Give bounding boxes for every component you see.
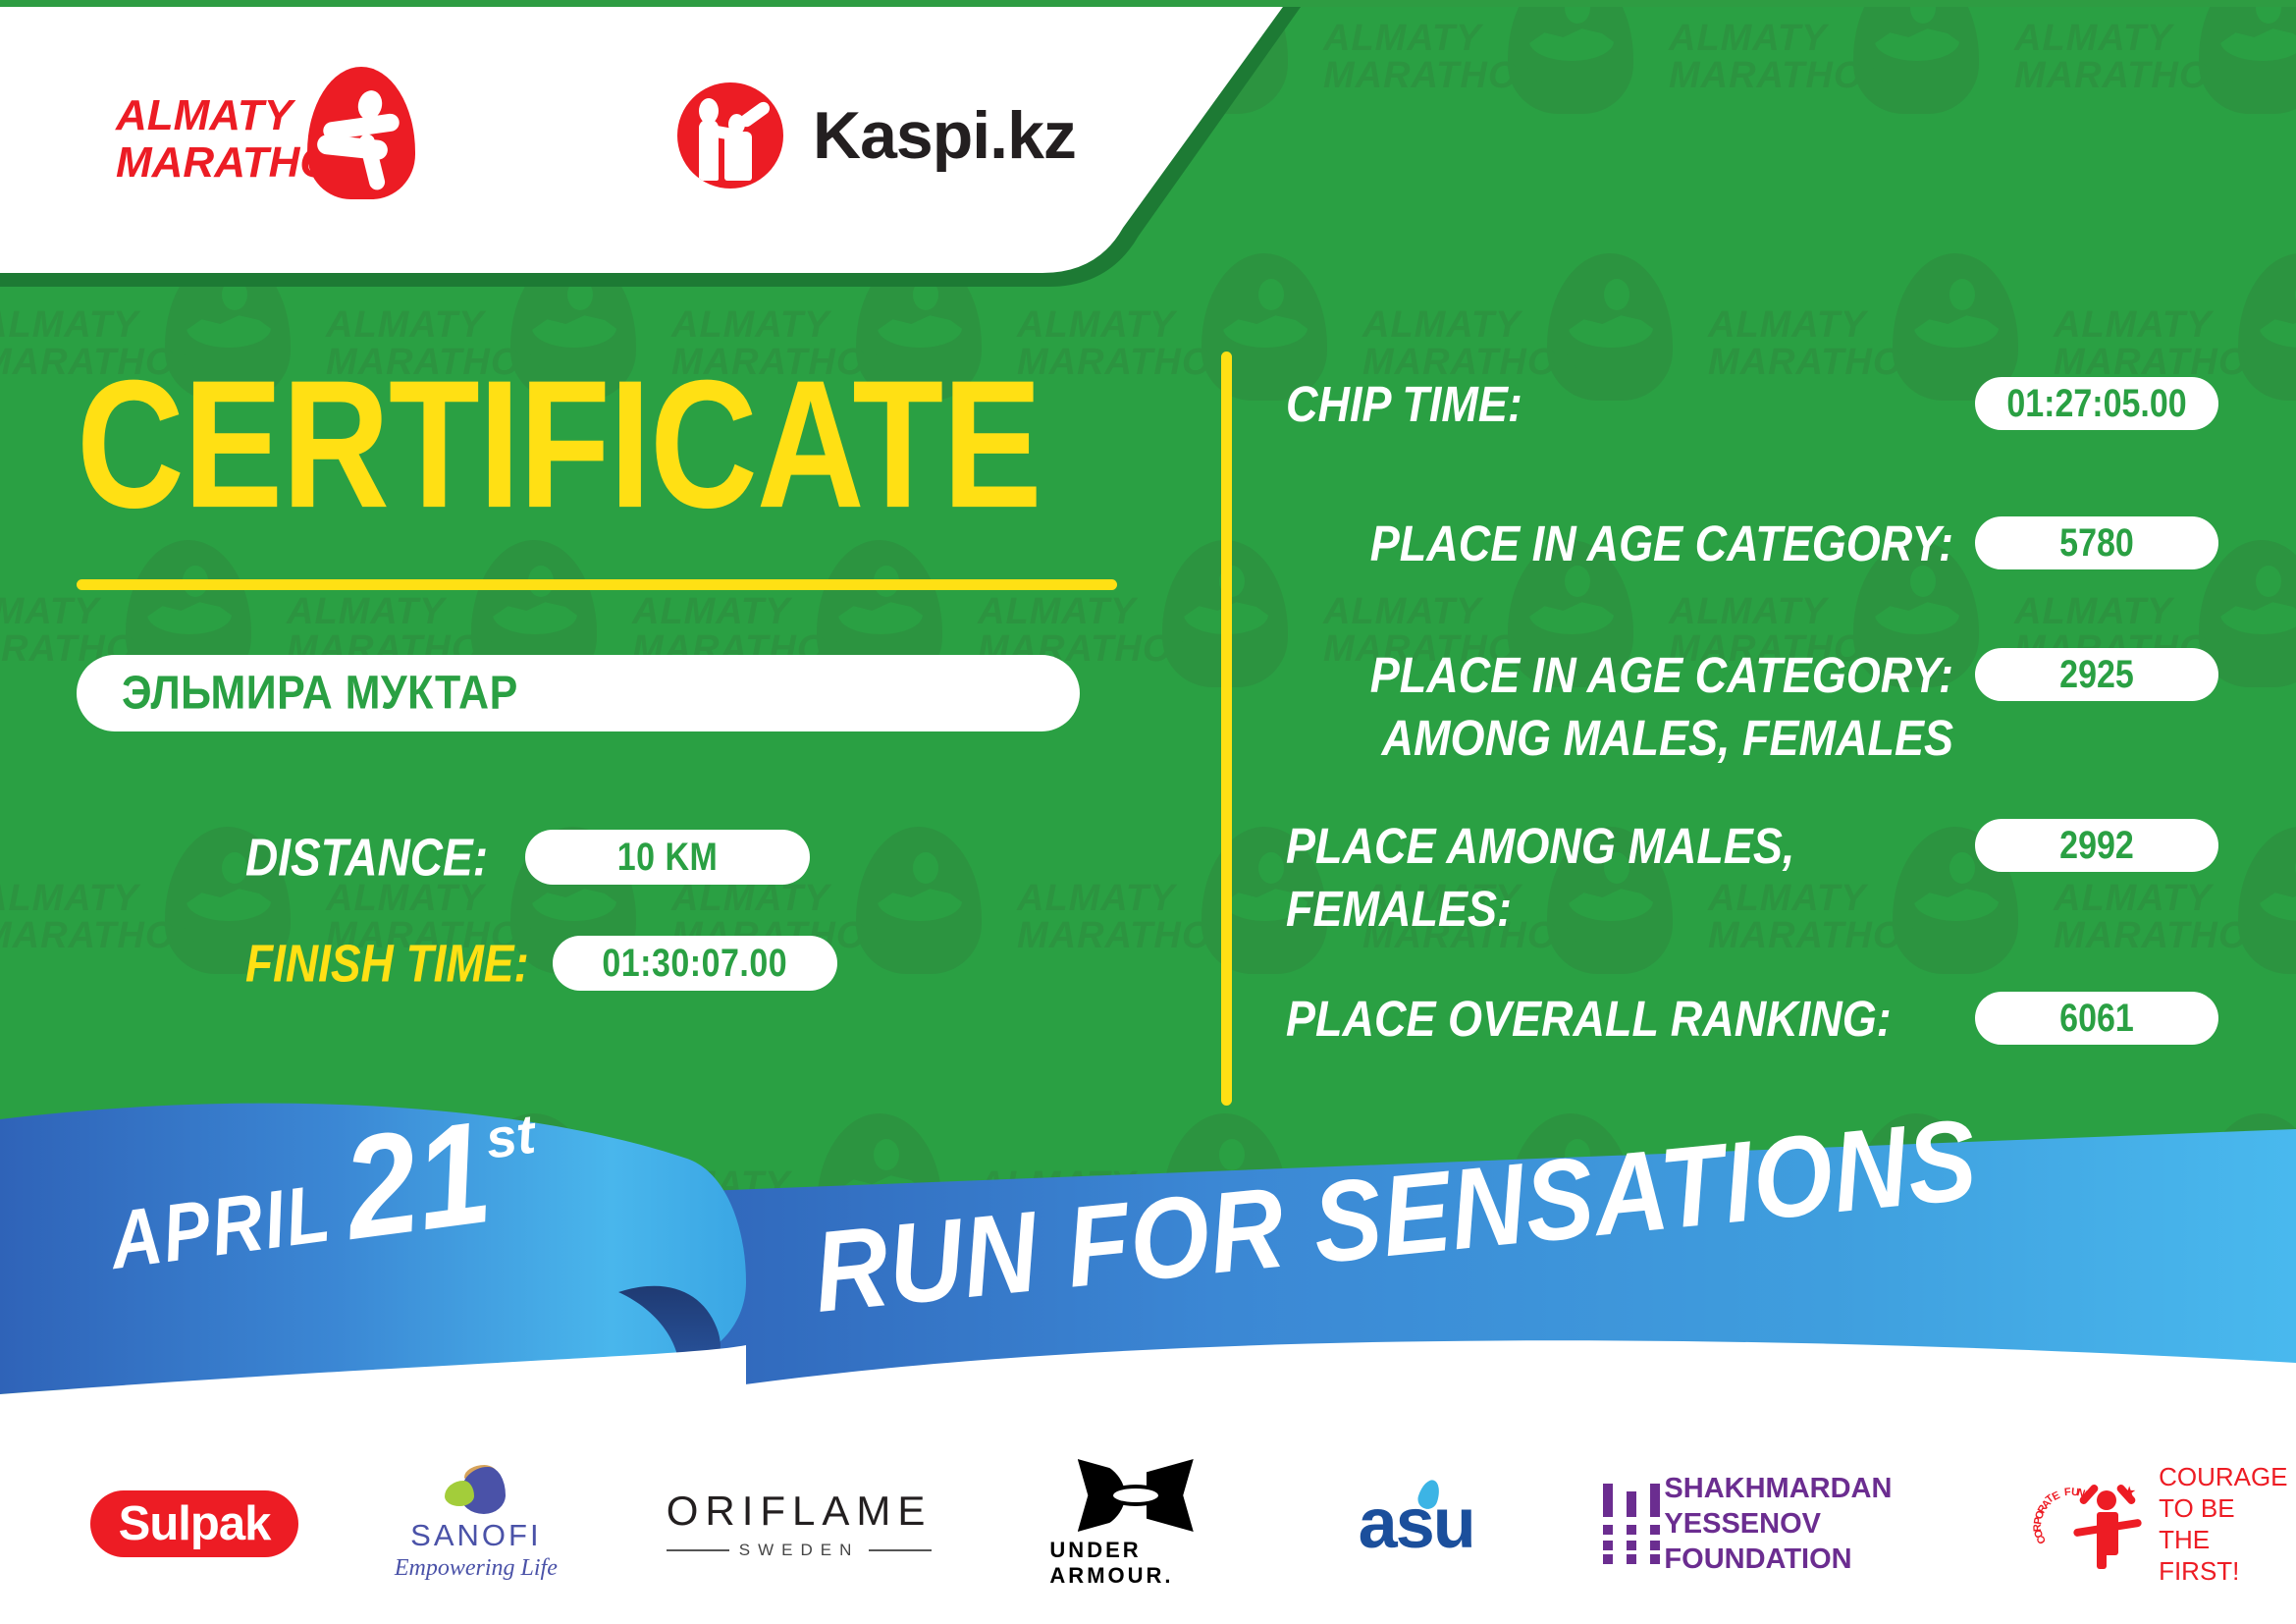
- watermark-line2: MARATHON: [1323, 55, 1546, 97]
- stat-place-overall-ranking: PLACE OVERALL RANKING: 6061: [1286, 988, 2218, 1045]
- syf-logo: SHAKHMARDAN YESSENOV FOUNDATION: [1601, 1471, 1926, 1577]
- watermark-tile: ALMATYMARATHON: [1669, 0, 1983, 206]
- watermark-line1: ALMATY: [1017, 304, 1176, 347]
- oriflame-sub: SWEDEN: [667, 1541, 933, 1560]
- syf-wordmark: SHAKHMARDAN YESSENOV FOUNDATION: [1664, 1471, 1926, 1577]
- sponsor-shakhmardan-yessenov-foundation: SHAKHMARDAN YESSENOV FOUNDATION: [1601, 1455, 1926, 1593]
- ctbf-line2: TO BE: [2159, 1492, 2296, 1524]
- finish-time-value-pill: 01:30:07.00: [553, 936, 837, 991]
- stat-place-among-gender: PLACE AMONG MALES, FEMALES: 2992: [1286, 815, 2218, 925]
- distance-label: DISTANCE:: [245, 827, 488, 889]
- syf-bars-icon: [1601, 1484, 1644, 1564]
- stat-place-age-category-pill: 5780: [1975, 516, 2218, 569]
- ctbf-mark-icon: CORPORATE FUND ★: [2034, 1477, 2143, 1571]
- ctbf-figure-icon: ★: [2075, 1485, 2140, 1569]
- stat-label-line2: FEMALES:: [1286, 878, 1953, 941]
- oriflame-logo: ORIFLAME SWEDEN: [667, 1488, 933, 1560]
- stat-chip-time-label: CHIP TIME:: [1286, 373, 1953, 436]
- stat-place-age-category-gender-value: 2925: [2059, 652, 2134, 697]
- syf-line1: SHAKHMARDAN YESSENOV: [1664, 1471, 1926, 1542]
- sponsor-bar: Sulpak SANOFI Empowering Life ORIFLAME S…: [0, 1424, 2296, 1624]
- stat-place-age-category-value: 5780: [2059, 520, 2134, 566]
- watermark-line1: ALMATY: [2054, 304, 2213, 347]
- kaspi-kz-wordmark: Kaspi.kz: [813, 97, 1076, 174]
- event-day-suffix: st: [482, 1102, 539, 1171]
- under-armour-icon: [1078, 1459, 1194, 1532]
- ctbf-line1: COURAGE: [2159, 1461, 2296, 1492]
- stat-place-among-gender-value: 2992: [2059, 823, 2134, 868]
- distance-value-pill: 10 KM: [525, 830, 810, 885]
- title-underline: [77, 579, 1117, 590]
- watermark-line1: ALMATY: [1669, 18, 1828, 60]
- oriflame-wordmark: ORIFLAME: [667, 1488, 933, 1535]
- sponsor-oriflame: ORIFLAME SWEDEN: [667, 1455, 933, 1593]
- ctbf-logo: CORPORATE FUND ★ COURAGE TO BE THE FIRST…: [2034, 1461, 2296, 1587]
- stat-place-among-gender-pill: 2992: [1975, 819, 2218, 872]
- sponsor-sulpak: Sulpak: [90, 1455, 298, 1593]
- top-rule: [0, 0, 2296, 7]
- sulpak-wordmark: Sulpak: [119, 1496, 271, 1551]
- finish-time-row: FINISH TIME: 01:30:07.00: [245, 936, 1176, 991]
- watermark-line1: ALMATY: [1708, 304, 1867, 347]
- certificate-title: CERTIFICATE: [77, 353, 1176, 535]
- watermark-line1: ALMATY: [1323, 18, 1482, 60]
- runner-drop-icon: [307, 67, 415, 199]
- finish-time-label: FINISH TIME:: [245, 933, 529, 995]
- stat-place-age-category-label: PLACE IN AGE CATEGORY:: [1286, 513, 1953, 575]
- kaspi-family-icon: [677, 82, 783, 189]
- event-day: 21: [336, 1100, 498, 1263]
- stat-place-age-category-gender-pill: 2925: [1975, 648, 2218, 701]
- finish-time-value: 01:30:07.00: [602, 941, 787, 986]
- oriflame-sweden-text: SWEDEN: [739, 1541, 860, 1560]
- watermark-line2: MARATHON: [2014, 55, 2237, 97]
- stat-label-line1: PLACE AMONG MALES,: [1286, 815, 1953, 878]
- sanofi-logo: SANOFI Empowering Life: [395, 1467, 558, 1582]
- runner-name-field: ЭЛЬМИРА МУКТАР: [77, 655, 1080, 731]
- asu-wordmark: asu: [1359, 1484, 1474, 1564]
- stat-chip-time-value: 01:27:05.00: [2006, 381, 2186, 426]
- left-column: CERTIFICATE ЭЛЬМИРА МУКТАР DISTANCE: 10 …: [77, 353, 1176, 991]
- sanofi-mark-icon: [439, 1467, 513, 1516]
- distance-value: 10 KM: [617, 835, 719, 880]
- stat-label-line2: AMONG MALES, FEMALES: [1286, 707, 1953, 770]
- stat-place-age-category-gender-label: PLACE IN AGE CATEGORY: AMONG MALES, FEMA…: [1286, 644, 1953, 770]
- right-column-stats: CHIP TIME: 01:27:05.00 PLACE IN AGE CATE…: [1286, 373, 2218, 1090]
- watermark-line1: ALMATY: [1362, 304, 1522, 347]
- watermark-line2: MARATHON: [1669, 55, 1892, 97]
- syf-line2: FOUNDATION: [1664, 1542, 1926, 1577]
- stat-chip-time-pill: 01:27:05.00: [1975, 377, 2218, 430]
- kaspi-kz-logo: Kaspi.kz: [677, 77, 1076, 194]
- sanofi-tagline: Empowering Life: [395, 1555, 558, 1582]
- ctbf-wordmark: COURAGE TO BE THE FIRST!: [2159, 1461, 2296, 1587]
- certificate-page: ALMATYMARATHONALMATYMARATHONALMATYMARATH…: [0, 0, 2296, 1624]
- stat-place-age-category: PLACE IN AGE CATEGORY: 5780: [1286, 513, 2218, 569]
- ctbf-line3: THE FIRST!: [2159, 1524, 2296, 1587]
- stat-place-overall-ranking-label: PLACE OVERALL RANKING:: [1286, 988, 1953, 1051]
- sponsor-courage-to-be-the-first: CORPORATE FUND ★ COURAGE TO BE THE FIRST…: [2034, 1455, 2296, 1593]
- stat-label-line1: PLACE IN AGE CATEGORY:: [1286, 644, 1953, 707]
- oriflame-rule-right: [869, 1549, 932, 1551]
- sanofi-wordmark: SANOFI: [410, 1518, 541, 1553]
- oriflame-rule-left: [667, 1549, 729, 1551]
- stat-place-among-gender-label: PLACE AMONG MALES, FEMALES:: [1286, 815, 1953, 941]
- under-armour-wordmark: UNDER ARMOUR.: [1049, 1538, 1221, 1589]
- sponsor-under-armour: UNDER ARMOUR.: [1049, 1455, 1221, 1593]
- watermark-tile: ALMATYMARATHON: [2014, 0, 2296, 206]
- sponsor-sanofi: SANOFI Empowering Life: [379, 1455, 573, 1593]
- watermark-line1: ALMATY: [326, 304, 485, 347]
- stat-place-age-category-gender: PLACE IN AGE CATEGORY: AMONG MALES, FEMA…: [1286, 644, 2218, 754]
- event-ribbon: APRIL 21 st RUN FOR SENSATIONS: [0, 1100, 2296, 1424]
- watermark-tile: ALMATYMARATHON: [1323, 0, 1637, 206]
- asu-logo: asu: [1359, 1484, 1474, 1564]
- stat-chip-time: CHIP TIME: 01:27:05.00: [1286, 373, 2218, 430]
- column-divider: [1221, 352, 1232, 1106]
- runner-name-value: ЭЛЬМИРА МУКТАР: [122, 667, 518, 721]
- sponsor-asu: asu: [1344, 1455, 1488, 1593]
- watermark-line1: ALMATY: [671, 304, 830, 347]
- stat-place-overall-ranking-value: 6061: [2059, 996, 2134, 1041]
- stat-place-overall-ranking-pill: 6061: [1975, 992, 2218, 1045]
- almaty-marathon-logo: ALMATY MARATHON: [116, 67, 450, 204]
- distance-row: DISTANCE: 10 KM: [245, 830, 1176, 885]
- watermark-line1: ALMATY: [0, 304, 139, 347]
- watermark-line1: ALMATY: [2014, 18, 2173, 60]
- under-armour-logo: UNDER ARMOUR.: [1049, 1459, 1221, 1589]
- sulpak-logo: Sulpak: [90, 1490, 298, 1557]
